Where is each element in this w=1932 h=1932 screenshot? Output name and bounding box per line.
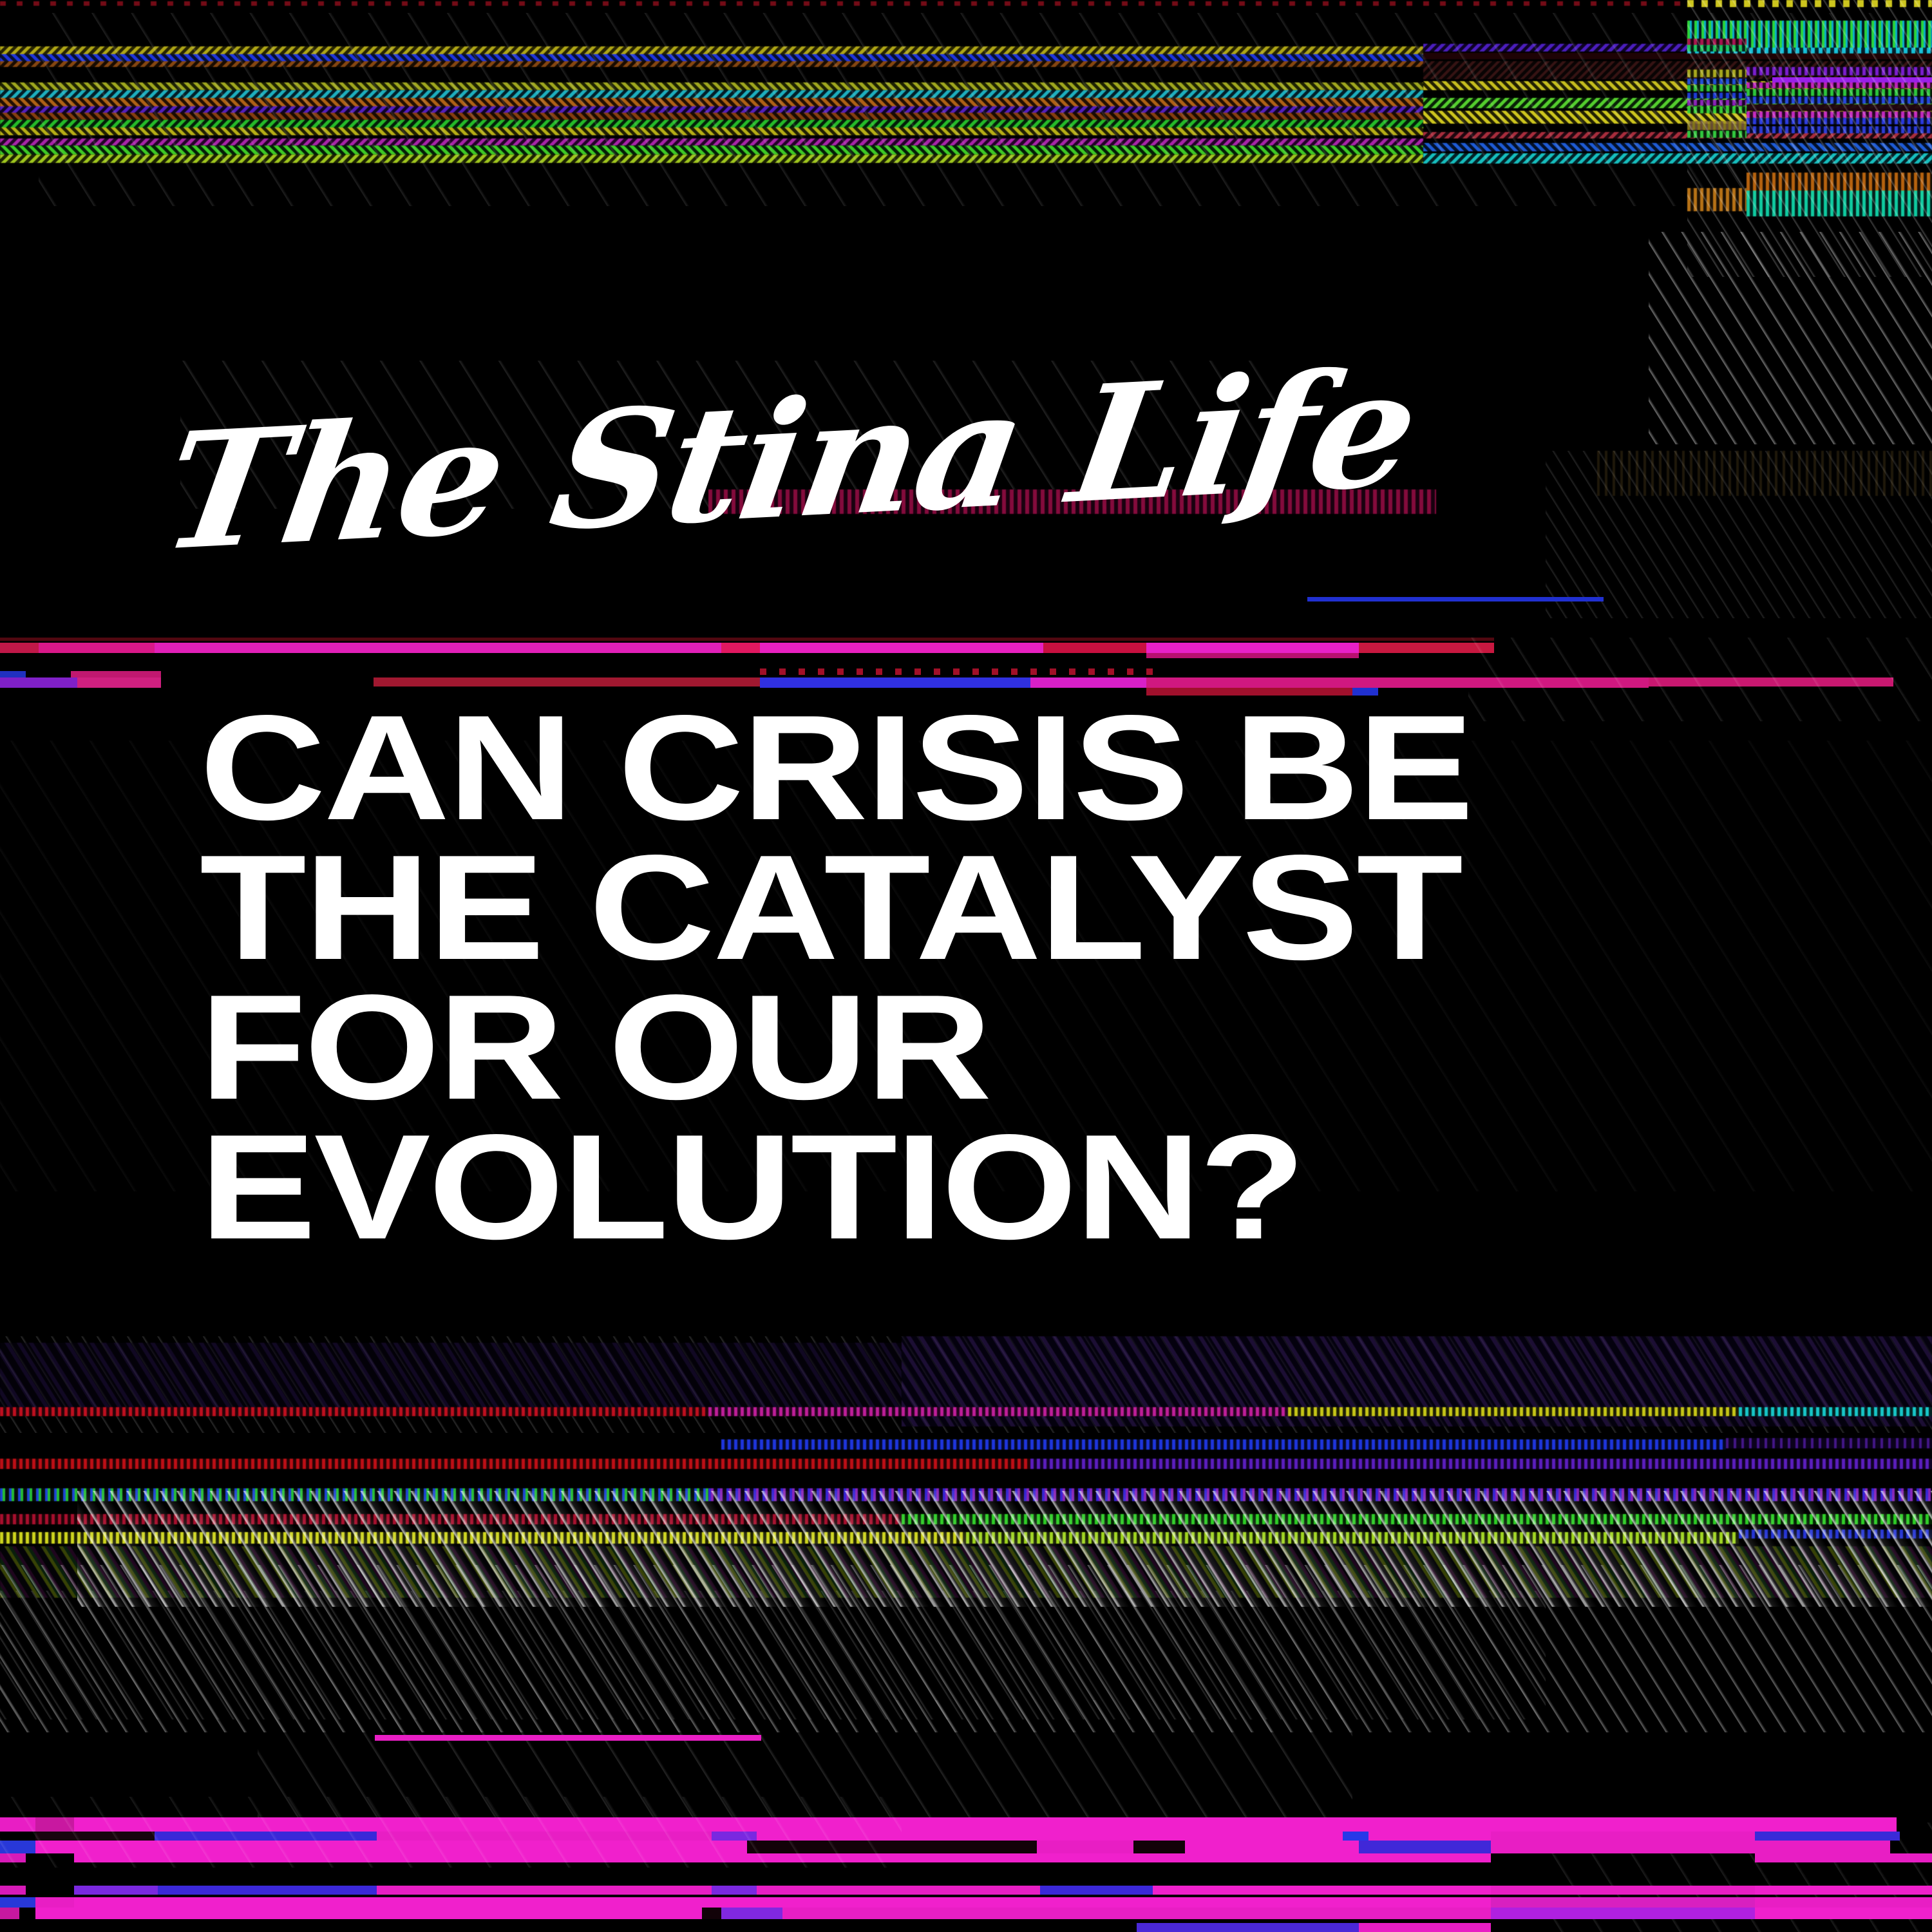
bar-pink-r1-r <box>1185 1841 1359 1853</box>
bar-pink-stub <box>1359 1923 1491 1932</box>
bar-violet-low-a <box>0 677 77 688</box>
scanline-red-top <box>0 1 1687 6</box>
streak-texture-topright <box>1687 0 1932 277</box>
scanline-yellow-lower-6 <box>0 1532 966 1544</box>
bar-blue-r1-i <box>1343 1832 1368 1841</box>
bar-pink-r2-t <box>782 1908 1491 1919</box>
zigzag-purple-r <box>1747 67 1932 75</box>
bar-crimson-seg-d <box>721 643 760 653</box>
episode-title: CAN CRISIS BE THE CATALYST FOR OUR EVOLU… <box>200 699 1932 1258</box>
bar-pink-r2-o <box>1755 1897 1932 1908</box>
bar-violet-r2-b <box>74 1886 158 1895</box>
bar-pink-r2-p <box>0 1908 19 1919</box>
bar-pink-r2-j <box>1755 1886 1932 1895</box>
bar-pink-r2-m <box>74 1897 1491 1908</box>
zigzag-green-small <box>1687 45 1747 52</box>
bar-magenta-seg-a <box>0 643 39 653</box>
bar-pink-r1-n <box>35 1841 747 1853</box>
scanline-pink-right <box>1423 132 1932 138</box>
episode-title-line-1: CAN CRISIS BE <box>200 699 1932 838</box>
scanline-yellow-3 <box>0 128 1423 135</box>
bar-blue-r1-l <box>1755 1832 1900 1841</box>
bar-pink-r1-f <box>377 1832 712 1841</box>
scanline-crimson-lower-5 <box>0 1514 902 1524</box>
streak-texture-midright <box>1649 232 1932 444</box>
bar-crimson-seg-f <box>1043 643 1146 653</box>
scanline-red-lower-1 <box>0 1407 708 1416</box>
streak-texture-lowright <box>1546 1823 1932 1932</box>
zigzag-green-l7 <box>1687 131 1747 138</box>
scanline-faint-right <box>1597 451 1932 496</box>
scanline-multi-lower-4 <box>0 1488 708 1501</box>
zigzag-magenta-r <box>1747 82 1932 88</box>
scanline-olive-2 <box>0 82 1423 90</box>
bar-dark-r1-gap <box>35 1832 155 1841</box>
brand-logo: The Stina Life <box>193 380 1481 612</box>
zigzag-blue-r6 <box>1747 118 1932 124</box>
bar-violet-r2-u <box>1491 1908 1755 1919</box>
streak-texture-lower-top <box>0 1336 1932 1433</box>
zigzag-green-l5 <box>1687 106 1747 113</box>
bar-pink-strip-b <box>71 671 161 677</box>
bar-magenta-r2-n <box>1491 1897 1755 1908</box>
bar-thin-magenta-lower <box>1146 653 1359 658</box>
scanline-red-lower-3 <box>0 1459 1030 1469</box>
bar-pink-low-b <box>77 677 161 688</box>
streak-texture-bottom <box>0 1797 902 1868</box>
bar-pink-r1-d <box>1491 1817 1897 1832</box>
bar-pink-low-g <box>1649 677 1893 687</box>
bar-red-dots <box>760 668 1159 675</box>
scanline-mixnoise-lower-7 <box>0 1546 1932 1598</box>
bar-pink-r1-j <box>1368 1832 1491 1841</box>
zigzag-crimson-r4 <box>1747 104 1932 111</box>
zigzag-green-r2 <box>1747 89 1932 96</box>
zigzag-blue-l <box>1687 79 1747 84</box>
bar-violet-r2-e <box>712 1886 757 1895</box>
scanline-cyan-right <box>1423 153 1932 164</box>
bar-dark-r1-o <box>747 1841 1037 1853</box>
scanline-violetblue-lower-4 <box>708 1488 1932 1501</box>
glitch-band-lower <box>0 1336 1932 1607</box>
scanline-violet-lower-3 <box>1030 1459 1932 1469</box>
bar-magenta-seg-g <box>1146 643 1359 653</box>
bar-pink-r2-v <box>1755 1908 1932 1919</box>
scanline-magenta-3 <box>0 138 1423 146</box>
scanline-green-3 <box>0 146 1423 155</box>
scanline-violet-noise-l <box>0 1343 902 1414</box>
streak-texture-big-diagonal <box>0 1565 1932 1732</box>
bar-blue-r1-m <box>0 1841 35 1853</box>
scanline-cyan-2 <box>0 90 1423 99</box>
bar-magenta-seg-c <box>155 643 721 653</box>
scanline-noise-right <box>1423 61 1932 79</box>
zigzag-magenta-small <box>1687 39 1747 45</box>
bar-pink-r1-v <box>74 1853 1491 1862</box>
bar-blue-r2-k <box>0 1897 35 1908</box>
zigzag-teal-big <box>1747 191 1932 216</box>
bar-blue-r2-c <box>158 1886 377 1895</box>
zigzag-cyan-line <box>1687 48 1932 53</box>
glitch-band-bottom <box>0 1797 1932 1932</box>
scanline-lime-3 <box>0 155 1423 163</box>
scanline-lime-lower-6 <box>966 1532 1739 1544</box>
scanline-violet-noise-r <box>902 1336 1932 1426</box>
scanline-blue-right <box>1423 143 1932 151</box>
scanline-green-2 <box>0 120 1423 128</box>
scanline-yellow-right2 <box>1423 111 1932 124</box>
scanline-magenta-lower-1 <box>708 1407 1288 1416</box>
scanline-yellow-topright <box>1687 0 1932 7</box>
bar-blue-r2-g <box>1040 1886 1153 1895</box>
bar-pink-r2-i <box>1491 1886 1755 1895</box>
zigzag-green-l2 <box>1687 85 1747 91</box>
bar-pink-r2-d <box>377 1886 712 1895</box>
scanline-blue-lower-6b <box>1739 1529 1932 1539</box>
episode-title-line-2: THE CATALYST <box>200 838 1932 978</box>
zigzag-magenta-r5 <box>1747 111 1932 118</box>
bar-thin-pink-accent <box>375 1735 761 1741</box>
scanline-violet-2 <box>0 106 1423 113</box>
zigzag-blue-r3 <box>1747 97 1932 104</box>
scanline-brown-2 <box>0 113 1423 120</box>
scanline-orange-1 <box>0 61 1423 67</box>
bar-pink-r1-c <box>74 1817 1491 1832</box>
streak-texture-lowmid <box>258 1700 1352 1842</box>
zigzag-mixed-l6 <box>1687 121 1747 130</box>
scanline-orange-2 <box>0 98 1423 107</box>
scanline-blue-lower-2 <box>721 1439 1726 1450</box>
bar-pink-r2-q <box>35 1908 702 1919</box>
bar-pink-r2-h <box>1153 1886 1491 1895</box>
streak-texture-big-diagonal-2 <box>0 1591 1546 1719</box>
bar-pink-r2-l <box>35 1897 74 1908</box>
bar-pink-r1-t <box>1491 1841 1890 1853</box>
bar-purple-bright <box>1772 77 1932 83</box>
scanline-violet-right <box>1423 44 1932 52</box>
bar-blue-r1-e <box>155 1832 377 1841</box>
zigzag-blue-r7 <box>1747 126 1932 133</box>
brand-logo-text: The Stina Life <box>151 334 1428 587</box>
bar-pink-r1-k <box>1491 1832 1755 1841</box>
bar-pink-r2-f <box>757 1886 1040 1895</box>
bar-magenta-seg-e <box>760 643 1043 653</box>
bar-pink-r1-a <box>0 1817 35 1832</box>
podcast-cover-artwork: The Stina Life CAN CRISIS BE THE CATALYS… <box>0 0 1932 1932</box>
scanline-violetdots-lower <box>1726 1438 1932 1448</box>
scanline-green-right2 <box>1423 98 1932 108</box>
scanline-cyan-lower-1 <box>1739 1407 1932 1416</box>
zigzag-orange-l-big <box>1687 188 1747 211</box>
zigzag-green-cyan-1 <box>1687 21 1932 50</box>
zigzag-blue-l3 <box>1687 93 1747 99</box>
zigzag-olive-l <box>1687 70 1747 77</box>
bar-pink-r1-p <box>1037 1841 1133 1853</box>
bar-blue-stub <box>1137 1923 1359 1932</box>
bar-blue-strip-a <box>0 671 26 677</box>
scanline-yellowgreen-lower-1 <box>1288 1407 1739 1416</box>
bar-pink-r2-a <box>0 1886 26 1895</box>
bar-darkred-1 <box>0 638 1494 641</box>
scanline-yellow-right <box>1423 81 1932 90</box>
bar-violet-r1-g <box>712 1832 757 1841</box>
episode-title-line-4: EVOLUTION? <box>200 1118 1932 1258</box>
episode-title-line-3: FOR OUR <box>200 978 1932 1118</box>
bar-blue-r1-s <box>1359 1841 1491 1853</box>
bar-pink-r1-h <box>757 1832 1343 1841</box>
streak-texture-top <box>39 13 1906 206</box>
scanline-yellow-1 <box>0 46 1423 55</box>
bar-dark-r1-q <box>1133 1841 1185 1853</box>
scanline-green-lower-5 <box>902 1514 1932 1524</box>
bar-dark-r2-r <box>702 1908 721 1919</box>
bar-violet-r2-s <box>721 1908 782 1919</box>
zigzag-purple-l4 <box>1687 100 1747 106</box>
scanline-red-right <box>1423 53 1932 59</box>
glitch-band-top <box>0 0 1932 206</box>
bar-crimson-seg-h <box>1359 643 1494 653</box>
bar-pink-r1-b <box>35 1817 74 1832</box>
bar-magenta-seg-b <box>39 643 155 653</box>
bar-pink-r1-w <box>1755 1853 1932 1862</box>
streak-texture-lower-bright <box>77 1491 1932 1607</box>
zigzag-orange-big <box>1747 173 1932 200</box>
bar-pink-r1-u <box>0 1853 26 1862</box>
scanline-blue-1 <box>0 54 1423 62</box>
glitch-band-topright <box>1687 0 1932 489</box>
